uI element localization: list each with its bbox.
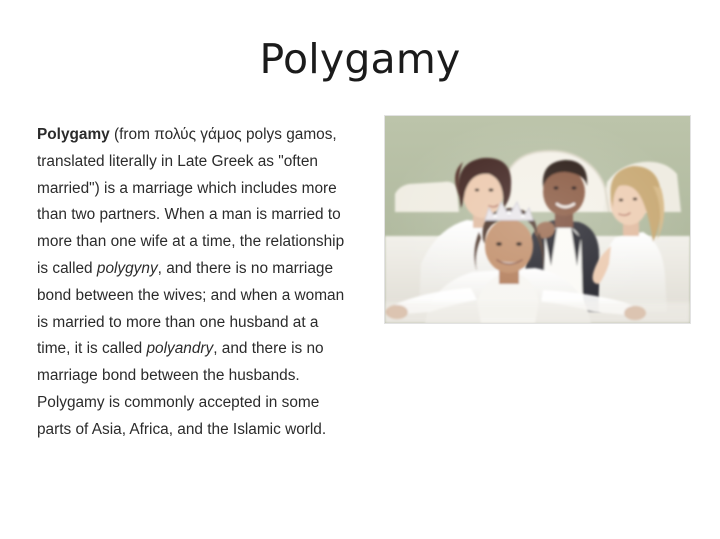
body-paragraph: Polygamy (from πολύς γάμος polys gamos, … bbox=[37, 122, 355, 444]
photo-illustration bbox=[385, 116, 690, 323]
body-term-polygamy: Polygamy bbox=[37, 126, 110, 143]
slide-canvas: Polygamy Polygamy (from πολύς γάμος poly… bbox=[0, 0, 720, 539]
body-term-polyandry: polyandry bbox=[146, 340, 213, 357]
page-title: Polygamy bbox=[0, 36, 720, 83]
slide-photo bbox=[385, 116, 690, 323]
body-run-1: (from πολύς γάμος polys gamos, translate… bbox=[37, 126, 344, 277]
body-term-polygyny: polygyny bbox=[97, 260, 158, 277]
